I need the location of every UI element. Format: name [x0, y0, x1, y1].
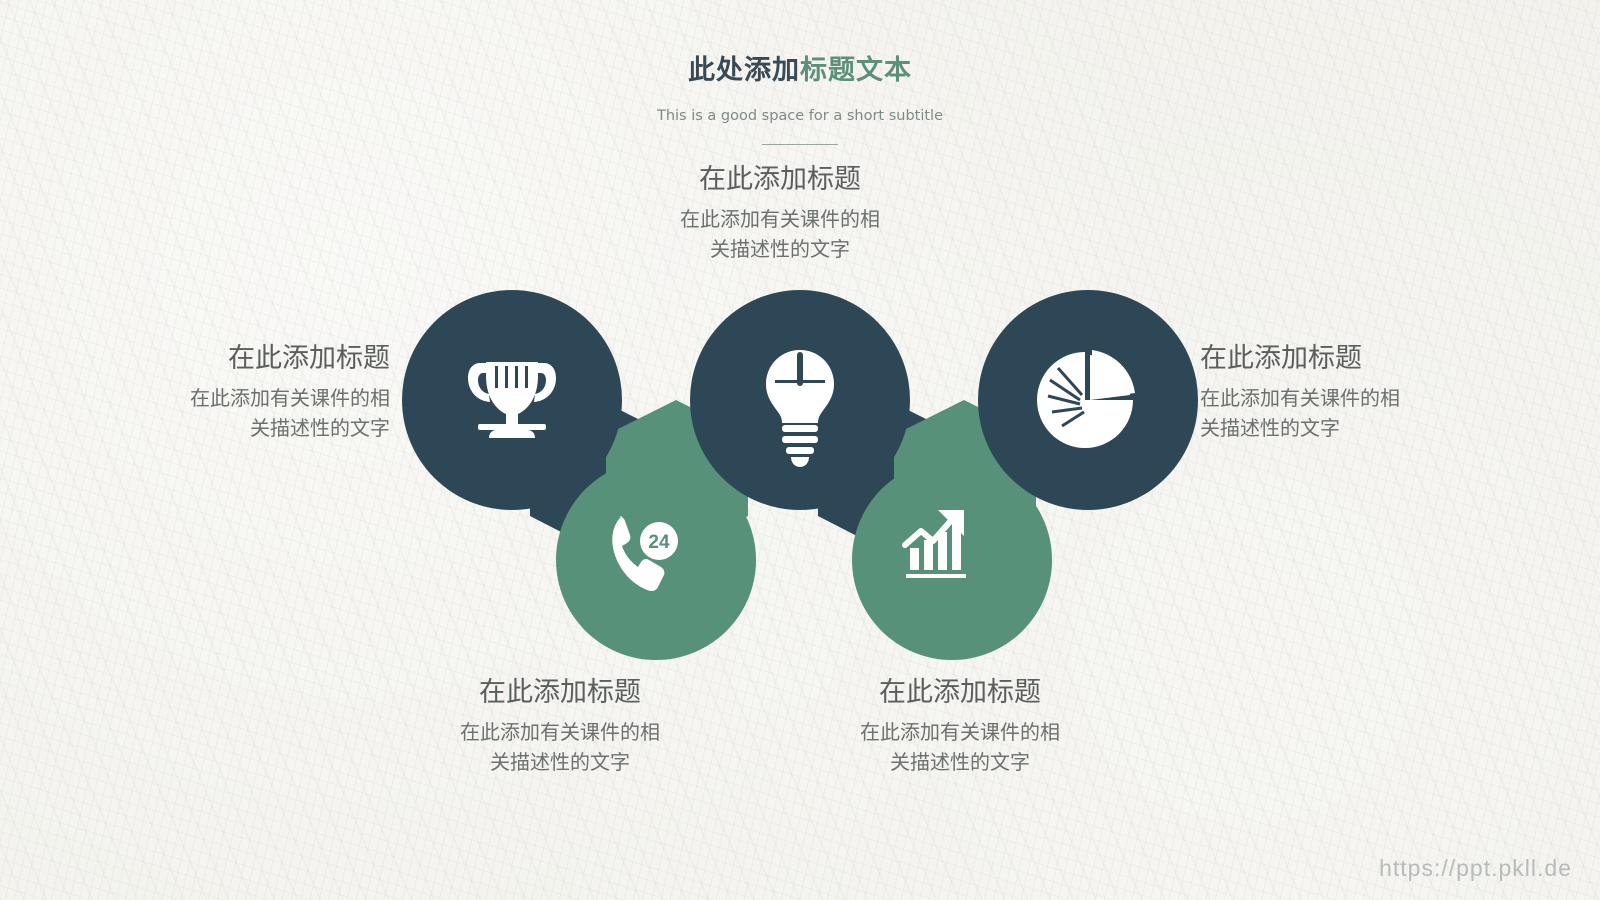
trophy-icon [468, 356, 556, 438]
node-text-left: 在此添加标题 在此添加有关课件的相 关描述性的文字 [80, 342, 390, 444]
node-circle-bottom-left[interactable] [556, 460, 756, 660]
node-desc-left-line1: 在此添加有关课件的相 [80, 384, 390, 414]
node-desc-right-line1: 在此添加有关课件的相 [1200, 384, 1530, 414]
node-desc-bottom-left: 在此添加有关课件的相 关描述性的文字 [360, 718, 760, 778]
node-title-left: 在此添加标题 [80, 342, 390, 374]
node-desc-bottom-right: 在此添加有关课件的相 关描述性的文字 [760, 718, 1160, 778]
node-desc-left-line2: 关描述性的文字 [80, 414, 390, 444]
footer-url[interactable]: https://ppt.pkll.de [1379, 855, 1572, 882]
node-desc-right-line2: 关描述性的文字 [1200, 414, 1530, 444]
node-text-top: 在此添加标题 在此添加有关课件的相 关描述性的文字 [560, 163, 1000, 265]
node-title-bottom-right: 在此添加标题 [760, 676, 1160, 708]
node-desc-top: 在此添加有关课件的相 关描述性的文字 [560, 205, 1000, 265]
node-title-top: 在此添加标题 [560, 163, 1000, 195]
node-desc-bottom-left-line1: 在此添加有关课件的相 [360, 718, 760, 748]
node-desc-top-line1: 在此添加有关课件的相 [560, 205, 1000, 235]
node-text-bottom-left: 在此添加标题 在此添加有关课件的相 关描述性的文字 [360, 676, 760, 778]
node-desc-bottom-left-line2: 关描述性的文字 [360, 748, 760, 778]
node-title-bottom-left: 在此添加标题 [360, 676, 760, 708]
svg-text:24: 24 [648, 532, 670, 553]
node-desc-bottom-right-line1: 在此添加有关课件的相 [760, 718, 1160, 748]
node-text-right: 在此添加标题 在此添加有关课件的相 关描述性的文字 [1200, 342, 1530, 444]
node-desc-right: 在此添加有关课件的相 关描述性的文字 [1200, 384, 1530, 444]
node-desc-left: 在此添加有关课件的相 关描述性的文字 [80, 384, 390, 444]
node-desc-bottom-right-line2: 关描述性的文字 [760, 748, 1160, 778]
node-title-right: 在此添加标题 [1200, 342, 1530, 374]
node-text-bottom-right: 在此添加标题 在此添加有关课件的相 关描述性的文字 [760, 676, 1160, 778]
slide-canvas: 此处添加标题文本 This is a good space for a shor… [0, 0, 1600, 900]
node-desc-top-line2: 关描述性的文字 [560, 235, 1000, 265]
